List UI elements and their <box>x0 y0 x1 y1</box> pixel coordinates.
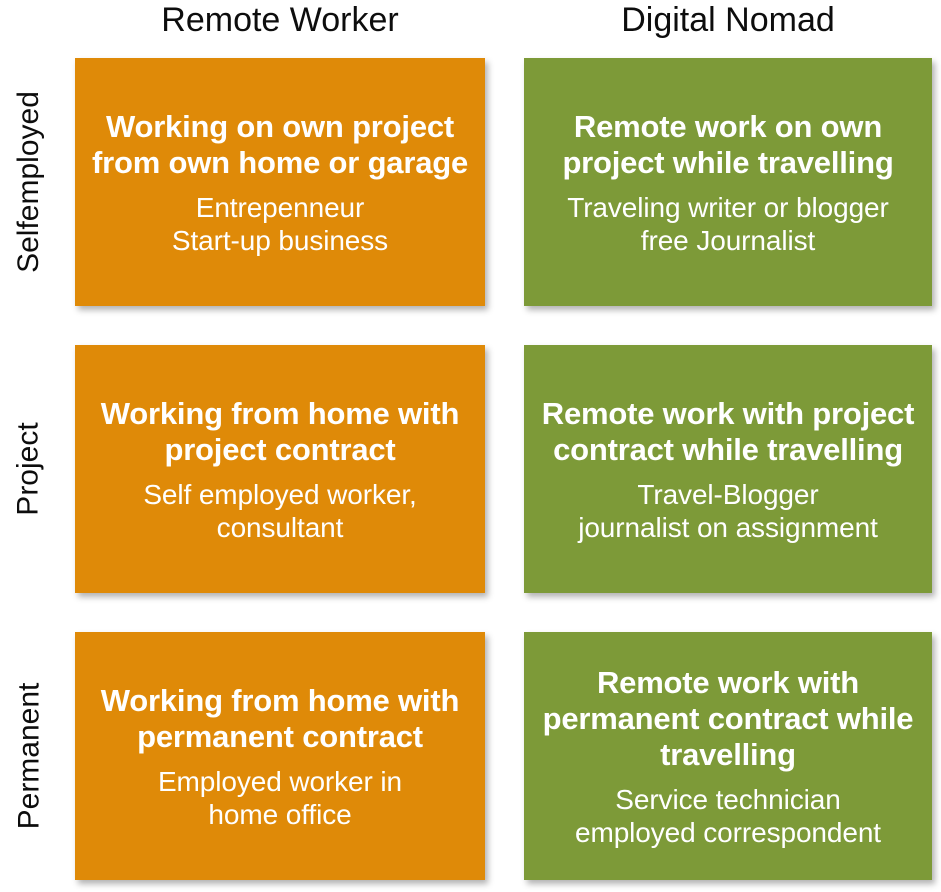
cell-subtitle: EntrepenneurStart-up business <box>172 191 388 257</box>
cell-permanent-digital-nomad[interactable]: Remote work with permanent contract whil… <box>524 632 932 880</box>
cell-title: Remote work on own project while travell… <box>538 109 918 182</box>
column-header-row: Remote Worker Digital Nomad <box>0 0 941 48</box>
row-label-project-text: Project <box>12 422 46 515</box>
cell-subtitle: Self employed worker,consultant <box>143 478 416 544</box>
cell-project-digital-nomad[interactable]: Remote work with project contract while … <box>524 345 932 593</box>
cell-selfemployed-digital-nomad[interactable]: Remote work on own project while travell… <box>524 58 932 306</box>
row-label-selfemployed-text: Selfemployed <box>12 91 46 273</box>
cell-subtitle: Service technicianemployed correspondent <box>575 783 881 849</box>
column-header-digital-nomad: Digital Nomad <box>524 0 932 44</box>
cell-title: Remote work with project contract while … <box>538 396 918 469</box>
cell-title: Remote work with permanent contract whil… <box>538 665 918 774</box>
cell-title: Working from home with permanent contrac… <box>89 683 471 756</box>
cell-subtitle: Traveling writer or bloggerfree Journali… <box>567 191 889 257</box>
cell-permanent-remote-worker[interactable]: Working from home with permanent contrac… <box>75 632 485 880</box>
row-label-permanent: Permanent <box>0 632 58 880</box>
matrix-diagram: Remote Worker Digital Nomad Selfemployed… <box>0 0 941 892</box>
cell-selfemployed-remote-worker[interactable]: Working on own project from own home or … <box>75 58 485 306</box>
cell-project-remote-worker[interactable]: Working from home with project contract … <box>75 345 485 593</box>
row-label-permanent-text: Permanent <box>12 683 46 830</box>
cell-title: Working on own project from own home or … <box>89 109 471 182</box>
cell-title: Working from home with project contract <box>89 396 471 469</box>
column-header-remote-worker: Remote Worker <box>75 0 485 44</box>
cell-subtitle: Employed worker inhome office <box>158 765 402 831</box>
row-label-project: Project <box>0 345 58 593</box>
row-label-selfemployed: Selfemployed <box>0 58 58 306</box>
cell-subtitle: Travel-Bloggerjournalist on assignment <box>578 478 878 544</box>
